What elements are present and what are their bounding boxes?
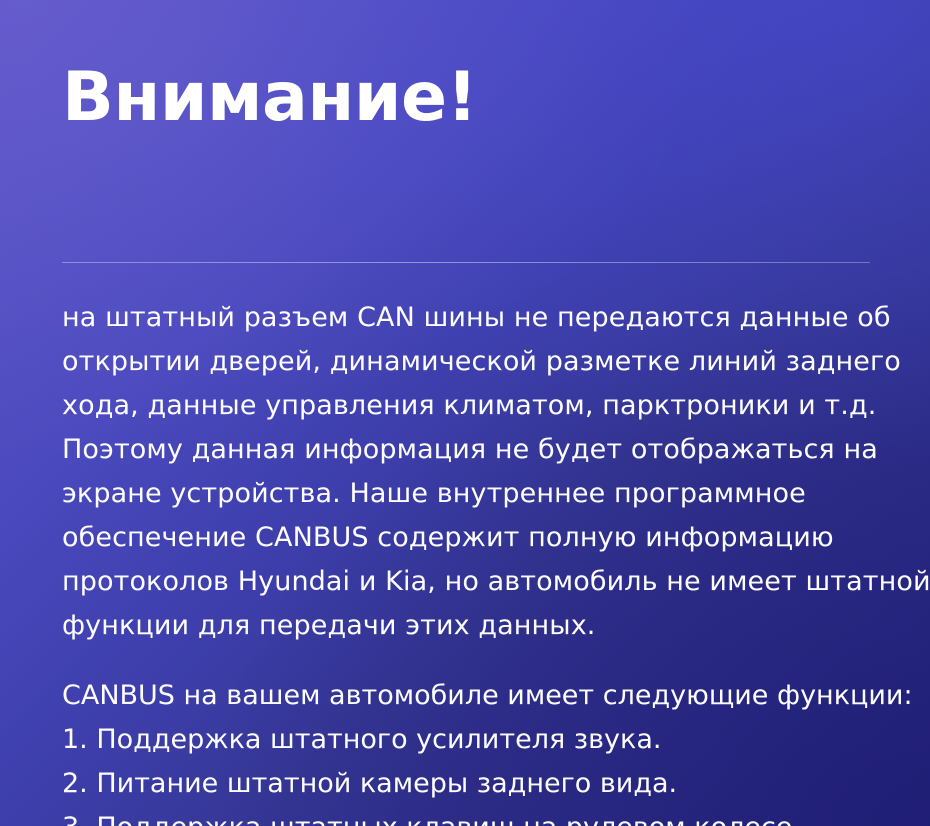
notice-line: протоколов Hyundai и Kia, но автомобиль … [62,560,930,604]
notice-line: обеспечение CANBUS содержит полную инфор… [62,516,930,560]
poster-content: на штатный разъем CAN шины не передаются… [62,296,930,826]
list-item-number: 1. [62,724,96,755]
list-item-label: Поддержка штатных клавиш на рулевом коле… [96,812,801,826]
list-item: 3. Поддержка штатных клавиш на рулевом к… [62,806,930,826]
notice-line: экране устройства. Наше внутреннее прогр… [62,472,930,516]
warning-poster: Внимание! на штатный разъем CAN шины не … [0,0,930,826]
notice-line: хода, данные управления климатом, парктр… [62,384,930,428]
list-item-label: Поддержка штатного усилителя звука. [96,724,661,755]
list-item: 2. Питание штатной камеры заднего вида. [62,762,930,806]
list-item-label: Питание штатной камеры заднего вида. [96,768,677,799]
header-divider [62,262,870,263]
notice-line: открытии дверей, динамической разметке л… [62,340,930,384]
list-item-number: 2. [62,768,96,799]
functions-lead: CANBUS на вашем автомобиле имеет следующ… [62,674,930,718]
functions-list: 1. Поддержка штатного усилителя звука. 2… [62,718,930,826]
functions-block: CANBUS на вашем автомобиле имеет следующ… [62,674,930,826]
list-item: 1. Поддержка штатного усилителя звука. [62,718,930,762]
page-title: Внимание! [62,64,477,132]
list-item-number: 3. [62,812,96,826]
poster-header: Внимание! [62,52,930,144]
notice-line: на штатный разъем CAN шины не передаются… [62,296,930,340]
notice-line: Поэтому данная информация не будет отобр… [62,428,930,472]
notice-paragraph: на штатный разъем CAN шины не передаются… [62,296,930,648]
notice-line: функции для передачи этих данных. [62,604,930,648]
